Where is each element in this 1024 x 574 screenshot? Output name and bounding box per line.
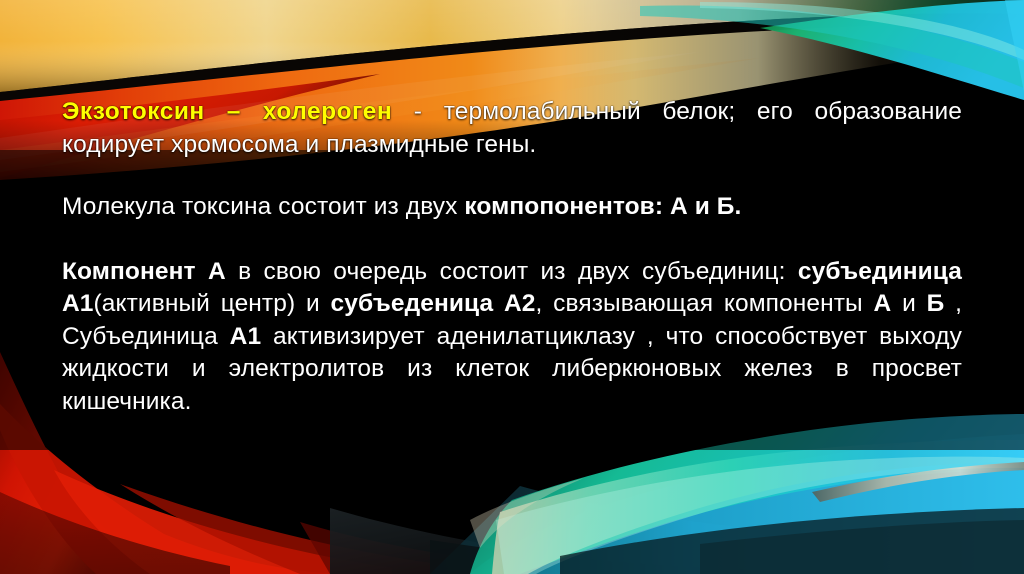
top-right-teal-swoosh <box>640 0 1024 100</box>
paragraph-1: Экзотоксин – холероген - термолабильный … <box>62 96 962 161</box>
p3-run-4: (активный центр) и <box>94 290 331 317</box>
paragraph-2-lead: Молекула токсина состоит из двух <box>62 193 464 220</box>
p3-run-8: и <box>891 290 926 317</box>
exotoxin-term-highlight: Экзотоксин – холероген <box>62 98 392 125</box>
subunit-a1-second: А1 <box>230 323 262 350</box>
component-a-letter: А <box>874 290 892 317</box>
components-bold: компопонентов: А и Б. <box>464 193 741 220</box>
presentation-slide: Экзотоксин – холероген - термолабильный … <box>0 0 1024 574</box>
subunit-a2-bold: субъеденица А2 <box>331 290 536 317</box>
paragraph-3: Компонент А в свою очередь состоит из дв… <box>62 256 962 419</box>
bottom-dark-facets <box>330 486 820 574</box>
component-a-bold: Компонент А <box>62 258 226 285</box>
component-b-letter: Б <box>927 290 945 317</box>
cream-sliver <box>470 478 584 548</box>
slide-body-text: Экзотоксин – холероген - термолабильный … <box>62 96 962 419</box>
p3-run-6: , связывающая компоненты <box>535 290 873 317</box>
paragraph-2: Молекула токсина состоит из двух компопо… <box>62 191 962 224</box>
p3-run-2: в свою очередь состоит из двух субъедини… <box>226 258 798 285</box>
bottom-right-cyan-swoosh <box>470 414 1024 574</box>
